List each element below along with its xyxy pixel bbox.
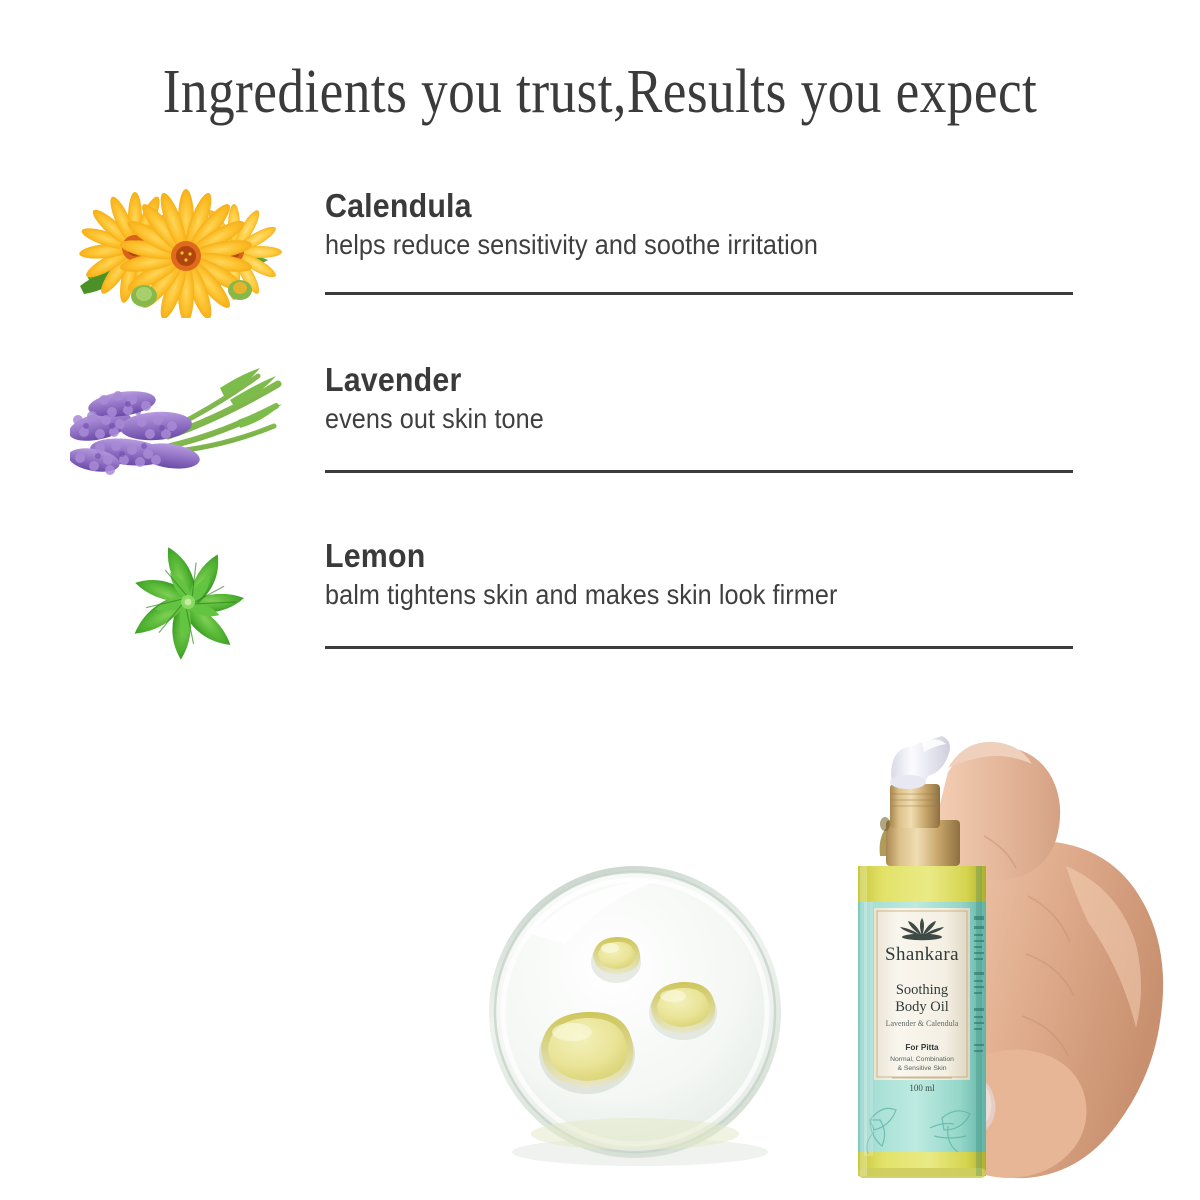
bottle-front-label: Shankara Soothing Body Oil Lavender & Ca…: [874, 908, 970, 1093]
ingredient-description: balm tightens skin and makes skin look f…: [325, 576, 998, 614]
ingredient-text-block: Lavender evens out skin tone: [325, 360, 1073, 438]
product-ingredients-infographic: Ingredients you trust,Results you expect: [0, 0, 1200, 1200]
ingredient-row-lavender: Lavender evens out skin tone: [70, 360, 1080, 500]
ingredient-name: Calendula: [325, 186, 1013, 226]
large-oil-drop: [539, 1012, 635, 1094]
lemon-balm-leaves-image: [70, 536, 310, 668]
label-skin-type-line-2: & Sensitive Skin: [897, 1065, 946, 1072]
label-skin-type-line-1: Normal, Combination: [890, 1056, 954, 1063]
ingredient-divider: [325, 646, 1073, 649]
ingredient-description: helps reduce sensitivity and soothe irri…: [325, 226, 998, 264]
ingredient-divider: [325, 292, 1073, 295]
ingredient-description: evens out skin tone: [325, 400, 998, 438]
label-brand: Shankara: [885, 944, 959, 965]
label-variant: Lavender & Calendula: [886, 1019, 959, 1028]
ingredient-text-block: Lemon balm tightens skin and makes skin …: [325, 536, 1073, 614]
shankara-soothing-body-oil-bottle: Shankara Soothing Body Oil Lavender & Ca…: [830, 716, 1180, 1200]
ingredient-name: Lemon: [325, 536, 1013, 576]
calendula-flower-image: [70, 186, 310, 318]
label-product-line-2: Body Oil: [895, 999, 949, 1015]
ingredient-name: Lavender: [325, 360, 1013, 400]
label-product-line-1: Soothing: [896, 982, 948, 998]
ingredient-row-lemon: Lemon balm tightens skin and makes skin …: [70, 536, 1080, 676]
petri-dish-with-oil-drops: [483, 862, 793, 1172]
ingredient-divider: [325, 470, 1073, 473]
lavender-sprig-image: [70, 360, 310, 492]
label-volume: 100 ml: [909, 1083, 935, 1093]
page-title: Ingredients you trust,Results you expect: [84, 54, 1116, 130]
ingredient-text-block: Calendula helps reduce sensitivity and s…: [325, 186, 1073, 264]
label-dosha: For Pitta: [905, 1043, 939, 1052]
medium-oil-drop: [649, 982, 717, 1040]
ingredient-row-calendula: Calendula helps reduce sensitivity and s…: [70, 186, 1080, 326]
small-oil-drop: [591, 937, 641, 983]
